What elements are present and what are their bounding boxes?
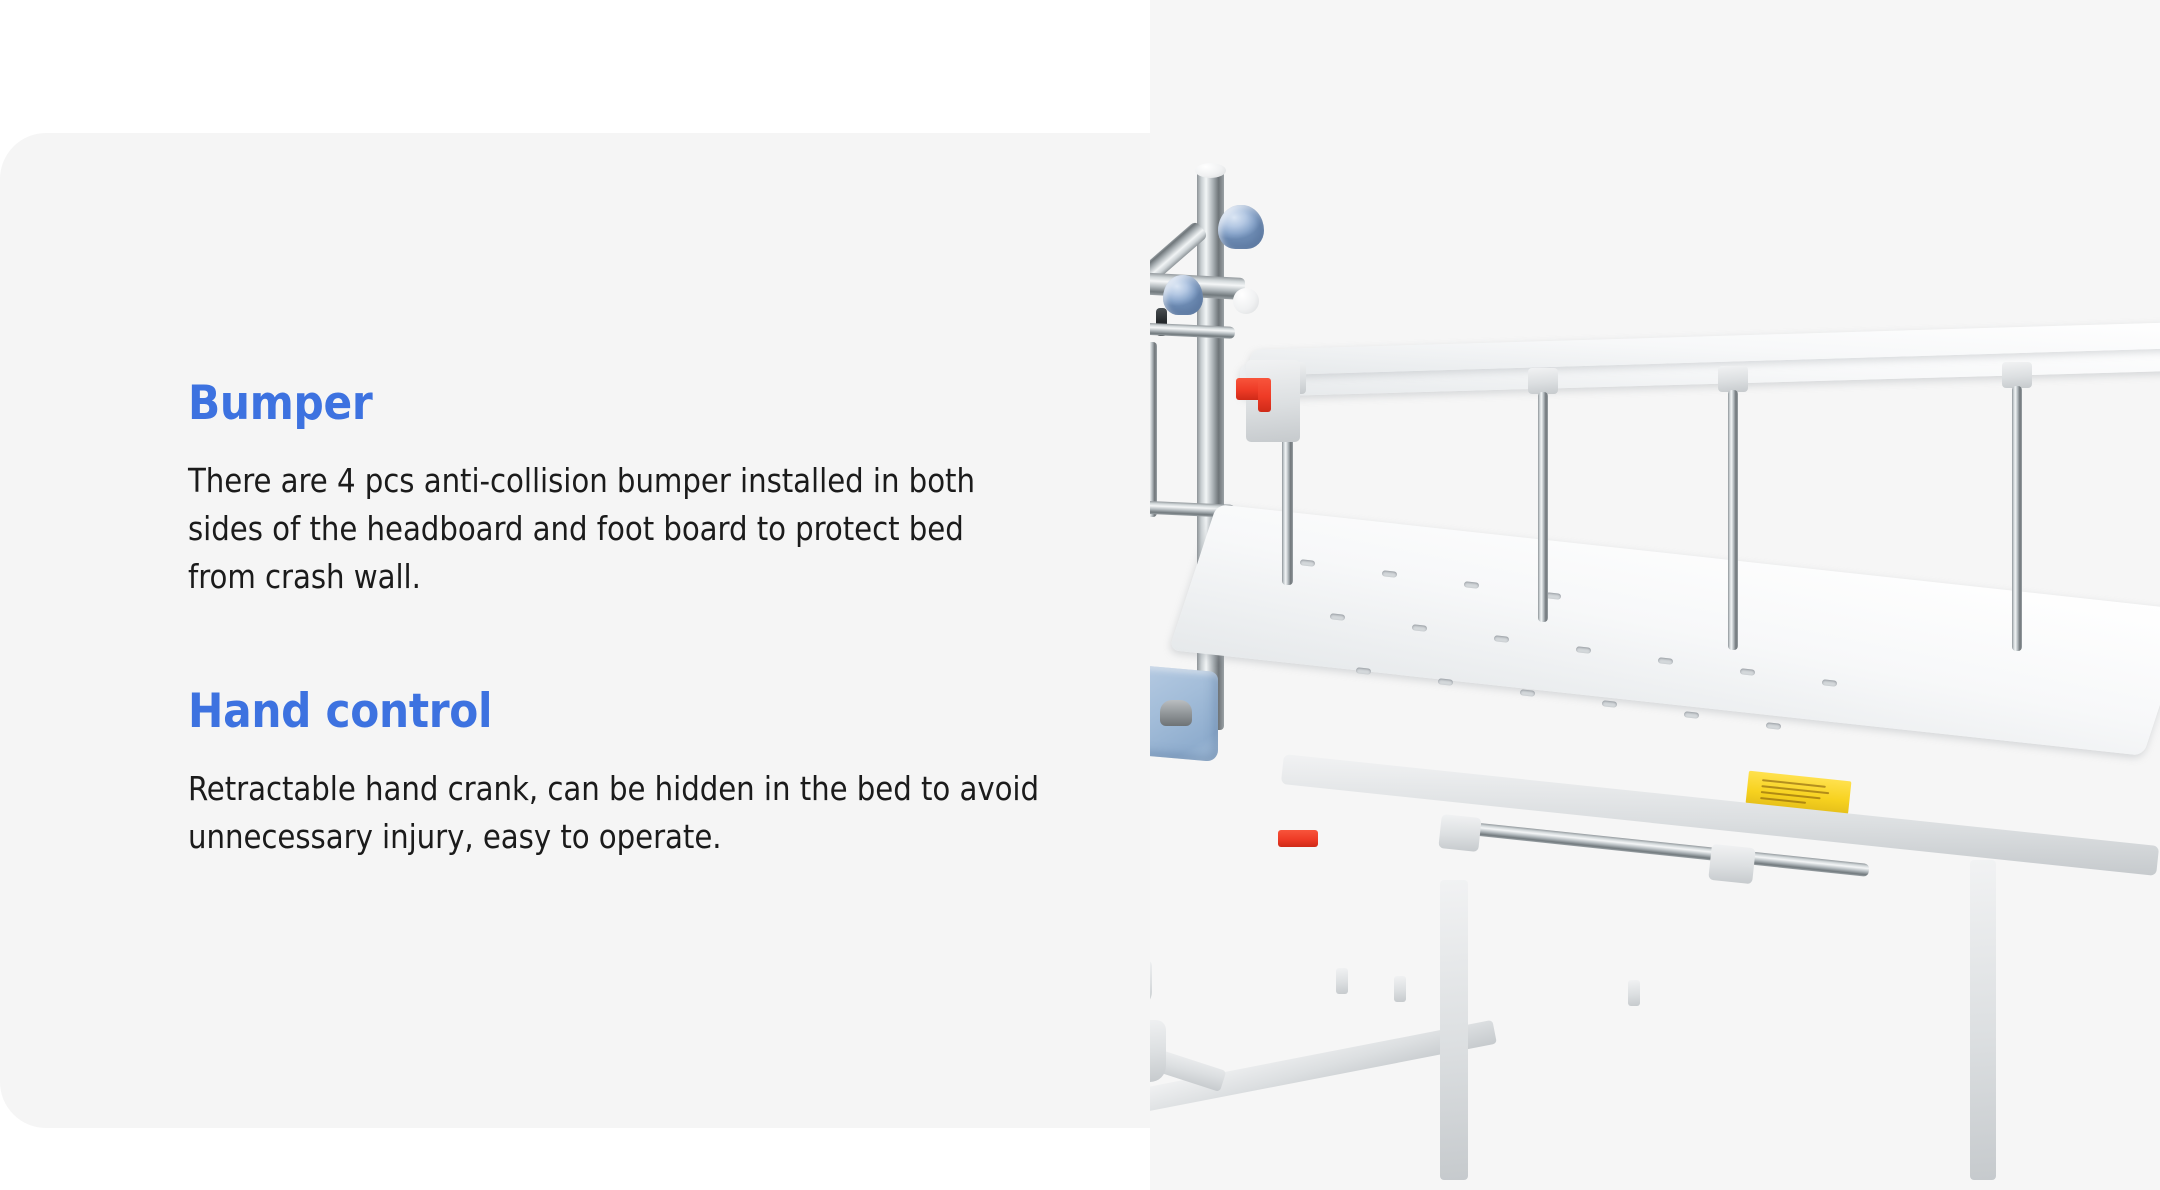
- deck-perforation: [1438, 678, 1454, 686]
- deck-perforation: [1356, 667, 1372, 675]
- side-rail-bracket-4: [2002, 362, 2032, 388]
- side-rail-bracket-3: [1718, 366, 1748, 392]
- crank-bracket-1: [1438, 814, 1481, 852]
- deck-stud-3: [1628, 980, 1640, 1006]
- feature-heading-hand-control: Hand control: [188, 687, 1108, 737]
- blue-knob-cap-5: [1163, 275, 1203, 315]
- feature-block-hand-control: Hand control Retractable hand crank, can…: [188, 687, 1108, 861]
- base-leg-far-right: [1970, 860, 1996, 1180]
- feature-body-hand-control: Retractable hand crank, can be hidden in…: [188, 765, 1073, 861]
- deck-release-lever-lower: [1278, 830, 1318, 847]
- caster-housing: [1150, 1020, 1166, 1082]
- side-rail-release-lever-stem: [1258, 378, 1271, 412]
- headboard-rail-3: [1150, 342, 1157, 517]
- feature-body-bumper: There are 4 pcs anti-collision bumper in…: [188, 457, 1023, 601]
- side-rail-bracket-2: [1528, 368, 1558, 394]
- deck-stud-1: [1336, 968, 1348, 994]
- caster-mount: [1150, 960, 1152, 1006]
- page-root: Bumper There are 4 pcs anti-collision bu…: [0, 0, 2160, 1190]
- deck-perforation: [1520, 689, 1536, 697]
- deck-perforation: [1766, 722, 1782, 730]
- traction-bar-end-cap: [1233, 288, 1259, 314]
- side-rail-latch-housing: [1246, 360, 1300, 442]
- bumper-right-roller: [1160, 700, 1192, 726]
- crank-bracket-2: [1708, 844, 1756, 884]
- deck-perforation: [1602, 700, 1618, 708]
- product-image-stage: [1150, 0, 2160, 1190]
- product-image: [1150, 0, 2160, 1190]
- side-rail-post-4: [2012, 386, 2022, 651]
- base-leg-right: [1440, 880, 1468, 1180]
- side-rail-post-2: [1538, 392, 1548, 622]
- feature-heading-bumper: Bumper: [188, 379, 1108, 429]
- traction-post-right-cap: [1195, 163, 1226, 178]
- deck-perforation: [1684, 711, 1700, 719]
- side-rail-post-3: [1728, 390, 1738, 650]
- feature-text-column: Bumper There are 4 pcs anti-collision bu…: [188, 379, 1108, 861]
- blue-knob-cap-6: [1218, 205, 1264, 249]
- deck-stud-2: [1394, 976, 1406, 1002]
- feature-block-bumper: Bumper There are 4 pcs anti-collision bu…: [188, 379, 1108, 601]
